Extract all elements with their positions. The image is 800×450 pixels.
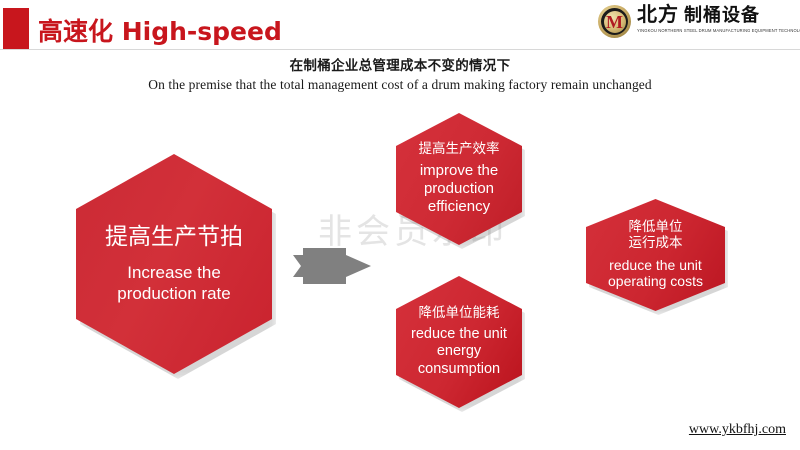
hexagon-label-cn: 降低单位 运行成本 <box>629 220 683 252</box>
premise-block: 在制桶企业总管理成本不变的情况下 On the premise that the… <box>0 57 800 94</box>
premise-text-en: On the premise that the total management… <box>0 76 800 94</box>
hexagon-label-cn: 提高生产节拍 <box>105 224 243 251</box>
hexagon-label-en-line1: reduce the unit <box>608 257 703 274</box>
hexagon-label-cn: 提高生产效率 <box>419 142 500 158</box>
hexagon-label-en-line3: efficiency <box>420 198 498 216</box>
hexagon-label-en: reduce the unit energy consumption <box>411 326 507 378</box>
hexagon-label-cn-line2: 运行成本 <box>629 236 683 252</box>
logo-name-cn: 北方制桶设备 <box>637 4 800 26</box>
logo-name-cn-primary: 北方 <box>637 2 679 26</box>
hexagon-label-en-line3: consumption <box>411 361 507 378</box>
logo-monogram-letter: M <box>598 5 631 38</box>
hexagon-label-en-line1: Increase the <box>117 263 230 283</box>
arrow-right-icon <box>293 248 371 284</box>
premise-text-cn: 在制桶企业总管理成本不变的情况下 <box>0 57 800 75</box>
hexagon-label-en-line1: reduce the unit <box>411 326 507 343</box>
hexagon-label-en-line2: energy <box>411 343 507 360</box>
hexagon-label-cn: 降低单位能耗 <box>419 306 500 322</box>
header-divider <box>0 49 800 50</box>
hexagon-label-en: Increase the production rate <box>117 263 230 304</box>
hexagon-label-en: improve the production efficiency <box>420 162 498 216</box>
logo-text-block: 北方制桶设备 YINGKOU NORTHERN STEEL DRUM MANUF… <box>637 3 800 33</box>
hexagon-label-en-line1: improve the <box>420 162 498 180</box>
hexagon-label-en-line2: production <box>420 180 498 198</box>
company-logo: M 北方制桶设备 YINGKOU NORTHERN STEEL DRUM MAN… <box>598 3 796 47</box>
page-title: 高速化 High-speed <box>38 12 282 48</box>
hexagon-label-cn-line1: 降低单位 <box>629 220 683 236</box>
hexagon-label-en: reduce the unit operating costs <box>608 257 703 291</box>
logo-medallion-icon: M <box>598 5 631 38</box>
hexagon-label-en-line2: operating costs <box>608 273 703 290</box>
logo-name-en: YINGKOU NORTHERN STEEL DRUM MANUFACTURIN… <box>637 28 800 33</box>
hexagon-label-en-line2: production rate <box>117 284 230 304</box>
slide-canvas: 高速化 High-speed M 北方制桶设备 YINGKOU NORTHERN… <box>0 0 800 450</box>
header-accent-bar <box>3 8 29 49</box>
logo-name-cn-secondary: 制桶设备 <box>684 5 760 26</box>
footer-website-url[interactable]: www.ykbfhj.com <box>689 422 786 438</box>
